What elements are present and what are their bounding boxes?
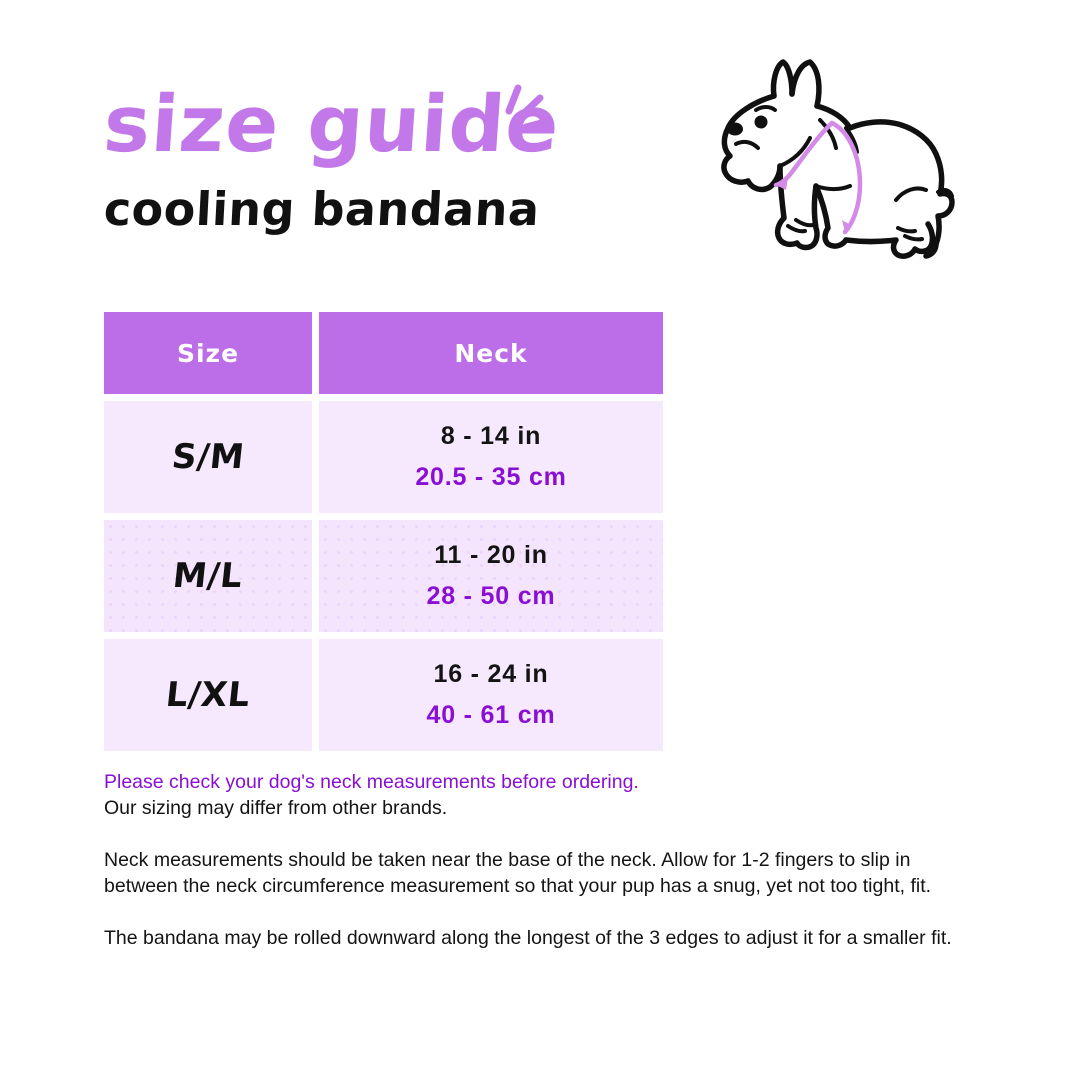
table-header-neck: Neck — [319, 312, 663, 394]
note-paragraph-2: The bandana may be rolled downward along… — [104, 925, 984, 951]
notes-section: Please check your dog's neck measurement… — [104, 769, 984, 951]
table-row: S/M 8 - 14 in 20.5 - 35 cm — [104, 401, 663, 513]
table-header-row: Size Neck — [104, 312, 663, 394]
title-block: size guide cooling bandana — [104, 86, 664, 232]
table-cell-neck: 8 - 14 in 20.5 - 35 cm — [319, 401, 663, 513]
size-label: S/M — [170, 437, 246, 477]
column-header-label: Neck — [454, 339, 527, 368]
size-chart-table: Size Neck S/M 8 - 14 in 20.5 - 35 cm M/L… — [104, 312, 663, 751]
page-title: size guide — [101, 86, 666, 164]
neck-cm-value: 20.5 - 35 cm — [415, 463, 566, 492]
neck-inches-value: 8 - 14 in — [441, 422, 541, 451]
size-label: L/XL — [164, 675, 252, 715]
page-subtitle: cooling bandana — [103, 186, 665, 232]
size-guide-page: size guide cooling bandana — [0, 0, 1080, 1080]
table-row: M/L 11 - 20 in 28 - 50 cm — [104, 520, 663, 632]
neck-cm-value: 40 - 61 cm — [427, 701, 556, 730]
table-row: L/XL 16 - 24 in 40 - 61 cm — [104, 639, 663, 751]
note-highlight: Please check your dog's neck measurement… — [104, 769, 984, 795]
note-subline: Our sizing may differ from other brands. — [104, 795, 984, 821]
table-header-size: Size — [104, 312, 312, 394]
french-bulldog-icon — [700, 40, 980, 280]
table-cell-size: S/M — [104, 401, 312, 513]
table-cell-size: M/L — [104, 520, 312, 632]
table-cell-size: L/XL — [104, 639, 312, 751]
column-header-label: Size — [177, 339, 239, 368]
neck-inches-value: 16 - 24 in — [434, 660, 549, 689]
neck-inches-value: 11 - 20 in — [434, 541, 548, 570]
neck-cm-value: 28 - 50 cm — [427, 582, 556, 611]
table-cell-neck: 16 - 24 in 40 - 61 cm — [319, 639, 663, 751]
sparkle-icon — [492, 78, 562, 148]
table-cell-neck: 11 - 20 in 28 - 50 cm — [319, 520, 663, 632]
note-paragraph-1: Neck measurements should be taken near t… — [104, 847, 984, 899]
size-label: M/L — [171, 556, 245, 596]
